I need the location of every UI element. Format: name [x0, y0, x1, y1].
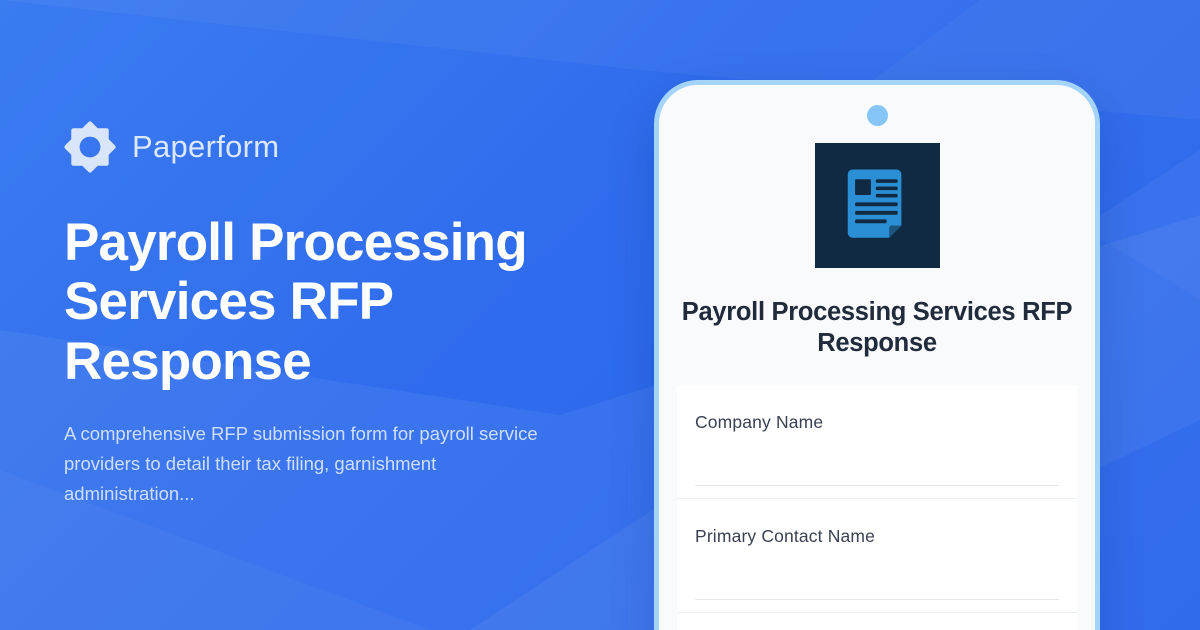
form-field-label: Company Name: [695, 412, 1059, 433]
paperform-star-logo-icon: [64, 121, 116, 173]
form-field-input[interactable]: [695, 485, 1059, 486]
phone-mockup: Payroll Processing Services RFP Response…: [654, 80, 1100, 630]
phone-screen: Payroll Processing Services RFP Response…: [659, 85, 1095, 630]
form-field-list: Company Name Primary Contact Name: [677, 385, 1077, 630]
camera-dot-icon: [867, 105, 888, 126]
form-field-partial[interactable]: [677, 613, 1077, 630]
page-description: A comprehensive RFP submission form for …: [64, 419, 569, 509]
form-field-primary-contact-name[interactable]: Primary Contact Name: [677, 499, 1077, 613]
form-field-company-name[interactable]: Company Name: [677, 385, 1077, 499]
brand-name: Paperform: [132, 129, 279, 165]
form-title: Payroll Processing Services RFP Response: [677, 297, 1077, 359]
form-field-label: Primary Contact Name: [695, 526, 1059, 547]
form-cover-image: [815, 143, 940, 268]
og-image-canvas: Paperform Payroll Processing Services RF…: [0, 0, 1200, 630]
hero-content: Paperform Payroll Processing Services RF…: [64, 0, 624, 630]
page-title: Payroll Processing Services RFP Response: [64, 213, 534, 391]
form-field-input[interactable]: [695, 599, 1059, 600]
brand-lockup: Paperform: [64, 121, 624, 173]
document-article-icon: [838, 167, 916, 245]
